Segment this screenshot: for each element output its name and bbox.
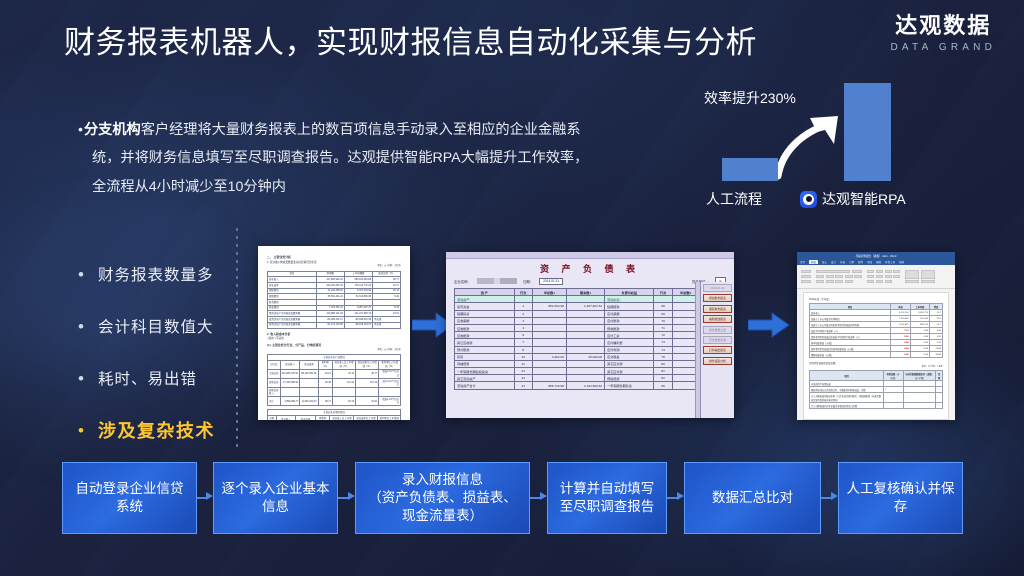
table-cell: 应付工资 (605, 332, 654, 339)
vertical-dotted-divider (236, 228, 238, 448)
table-cell: 其它应交款 (605, 360, 654, 367)
flow-step-label: 录入财报信息（资产负债表、损益表、现金流量表） (362, 471, 523, 526)
bar-label-manual: 人工流程 (706, 189, 762, 209)
doc1-section-1: 二、 主营业务分析 (267, 255, 401, 259)
doc1-section-2: 1. 营业收入构成及数量变动对比情况分析表 (267, 261, 401, 265)
table-cell: 68 (654, 303, 673, 310)
list-item-label: 财务报表数量多 (98, 263, 214, 285)
table-cell (533, 310, 567, 317)
table-cell: 31 (514, 382, 533, 389)
list-item-label: 会计科目数值大 (98, 315, 214, 337)
ribbon-group-paragraph[interactable] (867, 270, 900, 282)
table-cell: 计入当期损益的政府补助（与企业业务密切相关，按照国家统一标准定额或定量享受的政府… (810, 393, 884, 403)
balance-sheet-head: 资 产行次年初数1期末数1负债与权益行次年初数2期末数2 (455, 289, 726, 296)
table-cell: 其他业务收入 (268, 388, 281, 397)
list-item: • 耗时、易出错 (78, 352, 243, 404)
table-cell: 49.48 (318, 378, 332, 387)
table-header-cell: 营业成本比上年增减（%） (356, 360, 379, 369)
table-cell: 其它流动资产 (455, 375, 515, 382)
doc1-table-2-body: 主营业务316,284,376.5188,181,551.8118.2122.1… (268, 369, 401, 406)
table-cell: 20,000.00 (566, 353, 604, 360)
doc3-heading: 2014年度（半年度）: (809, 297, 943, 301)
table-cell (533, 332, 567, 339)
table-cell (332, 388, 355, 397)
lead-line1: 客户经理将大量财务报表上的数百项信息手动录入至相应的企业金融系 (141, 122, 581, 138)
flow-step-6[interactable]: 人工复核确认并保存 (838, 462, 963, 534)
table-cell: 70 (654, 317, 673, 324)
table-cell: 18.19 (332, 397, 355, 406)
doc1-unit-note: 单位：元 币种：人民币 (267, 265, 401, 268)
spreadsheet-side-buttons: 2014-01-31增加财务报表保存财务报表编辑修改报表报表数据上报历史数据查询… (700, 282, 734, 418)
spreadsheet-balance-sheet: 资 产 负 债 表 企业名称： 日期： 2014.01.31 货币单位： 元 资… (446, 252, 734, 418)
table-cell: 待摊费用 (455, 360, 515, 367)
flow-step-1[interactable]: 自动登录企业信贷系统 (62, 462, 197, 534)
side-action-button[interactable]: 历史数据查询 (703, 336, 732, 344)
screenshot-balance-sheet: 资 产 负 债 表 企业名称： 日期： 2014.01.31 货币单位： 元 资… (446, 252, 734, 418)
bullet-icon: • (78, 318, 98, 335)
table-cell (533, 324, 567, 331)
table-cell: 11,661,630.47 (300, 397, 318, 406)
table-cell: 855,716.98 (533, 382, 567, 389)
doc1-section-3: 2. 收入和成本分析 (267, 332, 401, 336)
table-cell: 21 (514, 368, 533, 375)
ribbon-group-clipboard[interactable] (801, 270, 811, 282)
table-cell (533, 346, 567, 353)
word-tab-插入[interactable]: 插入 (822, 260, 827, 264)
table-header-cell: 说明 (936, 371, 943, 381)
table-cell: 其它应付款 (605, 368, 654, 375)
table-cell: 减少3.12个百分点 (379, 378, 401, 387)
table-cell: 不适用 (373, 322, 401, 328)
doc1-table-1: 科目 本期数 上年同期数 变动比例（%） 营业收入417,826,991.203… (267, 271, 401, 329)
word-titlebar: 尽职调查报告（模板）.docx - Word (797, 252, 955, 259)
flow-step-5[interactable]: 数据汇总比对 (684, 462, 821, 534)
word-tab-文件[interactable]: 文件 (800, 260, 805, 264)
screenshot-word-report: 尽职调查报告（模板）.docx - Word 文件开始插入设计布局引用邮件审阅视… (797, 252, 955, 420)
table-cell: - (936, 393, 943, 403)
table-header-cell: 本期金额（￥-￥月） (884, 371, 903, 381)
growth-arrow-icon (772, 108, 850, 180)
table-cell (566, 346, 604, 353)
eye-logo-icon (800, 191, 817, 208)
table-cell: 4 (514, 324, 533, 331)
table-row: 其它应收款7应付福利费73 (455, 339, 726, 346)
table-cell: 74 (654, 346, 673, 353)
table-cell: 6 (514, 332, 533, 339)
table-cell (300, 388, 318, 397)
table-cell: 76 (654, 353, 673, 360)
lead-strong: 分支机构 (84, 122, 141, 138)
table-cell: 其它应收款 (455, 339, 515, 346)
doc3-table-2: 项目本期金额（￥-￥月）与前次披露数据差异（金额）（￥-￥月）说明 非流动资产处… (809, 370, 943, 409)
list-item-highlighted: • 涉及复杂技术 (78, 404, 243, 456)
table-cell (654, 296, 673, 303)
table-cell: 72 (654, 332, 673, 339)
table-cell: 其他业务 (268, 378, 281, 387)
table-cell: 应付账款 (605, 317, 654, 324)
table-cell: 应付票据 (605, 310, 654, 317)
table-header-cell: 营业收入 (276, 416, 296, 420)
table-cell: 短期投资 (455, 310, 515, 317)
table-cell: 36.77 (356, 369, 379, 378)
bullet-icon: • (78, 422, 98, 439)
table-cell: 应付福利费 (605, 339, 654, 346)
table-cell (514, 296, 533, 303)
table-header-cell: 期末数1 (566, 289, 604, 296)
table-cell: 2 (514, 310, 533, 317)
table-cell: 计入当期损益的对非金融企业收取的资金占用费 (810, 403, 884, 409)
table-cell: 1 (514, 303, 533, 310)
doc1-table-1-body: 营业收入417,826,991.20390,100,646.8828.77营业成… (268, 277, 401, 328)
table-header-cell: 毛利率（%） (318, 360, 332, 369)
efficiency-bar-chart: 效率提升230% 人工流程 达观智能RPA (700, 88, 960, 213)
doc3-t2-head: 项目本期金额（￥-￥月）与前次披露数据差异（金额）（￥-￥月）说明 (810, 371, 943, 381)
side-action-button[interactable]: 财务报表分析 (703, 357, 732, 365)
table-cell (566, 310, 604, 317)
doc3-table-1: 项目本期上年同期增减 营业收入4,276,7443,401,77525.7归属于… (809, 303, 943, 358)
brand-logo-cn: 达观数据 (890, 14, 996, 38)
flow-step-label: 自动登录企业信贷系统 (69, 480, 190, 516)
table-header-cell: 资 产 (455, 289, 515, 296)
brand-logo: 达观数据 DATA GRAND (890, 14, 996, 53)
table-cell: 应付利润 (605, 346, 654, 353)
doc1-table-2-head: 分行业营业收入营业成本毛利率（%）营业收入比上年增减（%）营业成本比上年增减（%… (268, 360, 401, 369)
table-cell: 81 (654, 368, 673, 375)
table-header-cell: 行次 (514, 289, 533, 296)
word-tab-视图[interactable]: 视图 (876, 260, 881, 264)
doc3-t2-body: 非流动资产处置损益越权审批或无正式批准文件，或偶发性的税收返还、减免1--计入当… (810, 381, 943, 409)
flow-step-4[interactable]: 计算并自动填写至尽职调查报告 (547, 462, 667, 534)
table-cell: 47,330,698.92 (280, 378, 300, 387)
table-cell: 一年到期长期债权投资 (455, 368, 515, 375)
chart-annotation: 效率提升230% (704, 88, 796, 108)
table-cell (566, 368, 604, 375)
table-row: 流动资产合计31855,716.982,152,500.52一年到期长期负债86 (455, 382, 726, 389)
table-cell: 应收票据 (455, 317, 515, 324)
table-cell: 316,284,376.51 (280, 369, 300, 378)
spreadsheet-title: 资 产 负 债 表 (446, 259, 734, 277)
table-row: 筹资活动产生的现金流量净额-91,172,100.55-95,108,193.0… (268, 322, 401, 328)
word-tab-开发工具[interactable]: 开发工具 (885, 260, 895, 264)
table-cell: 11 (514, 360, 533, 367)
table-cell: 预提费用 (605, 375, 654, 382)
doc3-t1-body: 营业收入4,276,7443,401,77525.7归属于上市公司股东的净利润1… (810, 310, 943, 358)
table-cell: 一年到期长期负债 (605, 382, 654, 389)
table-cell: 主营业务 (268, 369, 281, 378)
table-cell: 增加1.23个百分点 (379, 397, 401, 406)
page-title: 财务报表机器人，实现财报信息自动化采集与分析 (64, 24, 757, 63)
bar-rpa (844, 83, 891, 181)
doc1-table-2: 主营业务分行业情况 分行业营业收入营业成本毛利率（%）营业收入比上年增减（%）营… (267, 354, 401, 406)
table-row: 货币资金1852,254.981,407,601.52短期借款68 (455, 303, 726, 310)
table-header-cell: 营业收入 (280, 360, 300, 369)
table-cell: 8 (514, 346, 533, 353)
table-header-cell: 分地区 (268, 416, 277, 420)
table-cell: 增加2.51个百分点 (379, 369, 401, 378)
table-cell (533, 360, 567, 367)
table-cell: 24 (514, 375, 533, 382)
side-action-button[interactable]: 保存财务报表 (703, 305, 732, 313)
table-header-cell: 年初数1 (533, 289, 567, 296)
table-cell: 30.88 (930, 352, 943, 358)
table-cell (884, 403, 903, 409)
screenshot-financial-report: 二、 主营业务分析 1. 营业收入构成及数量变动对比情况分析表 单位：元 币种：… (258, 246, 410, 420)
table-row: 应收票据3应付账款70 (455, 317, 726, 324)
table-cell: -91,172,100.55 (316, 322, 344, 328)
side-action-button[interactable]: 打印输出报表 (703, 346, 732, 354)
lead-paragraph: •分支机构客户经理将大量财务报表上的数百项信息手动录入至相应的企业金融系 统，并… (78, 116, 658, 201)
word-ribbon (797, 265, 955, 289)
doc3-unit-line: 单位：元 币种：人民币 (809, 365, 943, 368)
table-cell: 应收账款 (455, 324, 515, 331)
table-row: 一年到期长期债权投资21其它应付款81 (455, 368, 726, 375)
spreadsheet-meta: 企业名称： 日期： 2014.01.31 货币单位： 元 (446, 277, 734, 288)
table-cell (566, 360, 604, 367)
side-action-button[interactable]: 编辑修改报表 (703, 315, 732, 323)
table-row: 待摊费用11其它应交款80 (455, 360, 726, 367)
table-header-cell: 与前次披露数据差异（金额）（￥-￥月） (903, 371, 936, 381)
table-row: 其他业务收入 (268, 388, 401, 397)
slide-canvas: 财务报表机器人，实现财报信息自动化采集与分析 达观数据 DATA GRAND •… (0, 0, 1024, 576)
brand-logo-en: DATA GRAND (890, 42, 996, 53)
list-item-label: 涉及复杂技术 (98, 417, 215, 443)
table-cell (533, 368, 567, 375)
ribbon-group-styles[interactable] (905, 270, 935, 284)
table-cell (566, 317, 604, 324)
table-cell: 80 (654, 360, 673, 367)
table-cell: 88,181,551.81 (300, 369, 318, 378)
table-cell: - (903, 393, 936, 403)
table-cell (533, 339, 567, 346)
bar-label-rpa: 达观智能RPA (800, 189, 906, 209)
table-cell: 预收账款 (605, 324, 654, 331)
table-cell (566, 296, 604, 303)
table-row: 计入当期损益的对非金融企业收取的资金占用费-- (810, 403, 943, 409)
table-header-cell: 毛利率比上年增减（%） (379, 360, 401, 369)
right-arrow-icon (197, 495, 213, 501)
table-cell: - (903, 403, 936, 409)
table-header-cell: 分行业 (268, 360, 281, 369)
table-header-cell: 项目 (810, 371, 884, 381)
word-tab-引用[interactable]: 引用 (849, 260, 854, 264)
right-arrow-icon (748, 312, 790, 338)
side-action-button[interactable]: 增加财务报表 (703, 294, 732, 302)
table-cell: 3,462.00 (533, 353, 567, 360)
table-cell: 预付账款 (455, 346, 515, 353)
lead-line3: 全流程从4小时减少至10分钟内 (78, 173, 658, 201)
table-cell: - (936, 403, 943, 409)
table-cell: 167.10 (356, 378, 379, 387)
table-row: 计入当期损益的政府补助（与企业业务密切相关，按照国家统一标准定额或定量享受的政府… (810, 393, 943, 403)
table-header-cell: 毛利率比上年增减（%） (378, 416, 401, 420)
table-cell: 2,152,500.52 (566, 382, 604, 389)
flow-step-label: 数据汇总比对 (712, 489, 793, 507)
table-cell: 69 (654, 310, 673, 317)
table-cell: 流动负债： (605, 296, 654, 303)
word-tab-开始[interactable]: 开始 (809, 260, 818, 264)
table-header-cell: 营业成本 (296, 416, 316, 420)
balance-sheet-body: 流动资产：流动负债：货币资金1852,254.981,407,601.52短期借… (455, 296, 726, 389)
table-cell: -95,108,193.07 (344, 322, 372, 328)
company-value-redacted (477, 278, 517, 284)
bar-manual (722, 158, 778, 181)
table-cell (318, 388, 332, 397)
ribbon-group-font[interactable] (816, 270, 862, 282)
list-item-label: 耗时、易出错 (98, 367, 197, 389)
table-cell: 0.56 (910, 352, 929, 358)
word-document-page: 2014年度（半年度）: 项目本期上年同期增减 营业收入4,276,7443,4… (803, 292, 949, 420)
table-cell (280, 388, 300, 397)
balance-sheet-grid: 资 产行次年初数1期末数1负债与权益行次年初数2期末数2 流动资产：流动负债：货… (454, 288, 726, 390)
doc1-section-4: (1). 主营业务分行业、分产品、分地区情况 (267, 343, 401, 347)
doc1-table-3-head: 分地区营业收入营业成本毛利率（%）营业收入比上年增减（%）营业成本比上年增减（%… (268, 416, 401, 420)
table-row: 合计1,899,998.7711,661,630.4738.7118.1991.… (268, 397, 401, 406)
flow-step-label: 人工复核确认并保存 (845, 480, 956, 516)
date-value[interactable]: 2014.01.31 (539, 278, 563, 285)
table-cell: 货币资金 (455, 303, 515, 310)
table-row: 其它流动资产24预提费用82 (455, 375, 726, 382)
table-cell: 1,407,601.52 (566, 303, 604, 310)
table-cell (533, 296, 567, 303)
right-arrow-icon (667, 495, 684, 501)
doc-financial-report: 二、 主营业务分析 1. 营业收入构成及数量变动对比情况分析表 单位：元 币种：… (267, 255, 401, 420)
table-cell (884, 393, 903, 403)
flow-step-3[interactable]: 录入财报信息（资产负债表、损益表、现金流量表） (355, 462, 530, 534)
lead-bullet-icon: • (78, 122, 83, 138)
table-cell: 应收账款 (455, 332, 515, 339)
table-header-cell: 营业收入比上年增减（%） (332, 360, 355, 369)
table-cell: 10 (514, 353, 533, 360)
table-row: 主营业务316,284,376.5188,181,551.8118.2122.1… (268, 369, 401, 378)
table-header-cell: 营业收入比上年增减（%） (330, 416, 354, 420)
table-cell: 稀释每股收益（元/股） (810, 352, 891, 358)
date-label: 日期： (523, 279, 533, 284)
table-cell: 852,254.98 (533, 303, 567, 310)
table-cell (566, 375, 604, 382)
table-cell: 86 (654, 382, 673, 389)
table-cell: 筹资活动产生的现金流量净额 (268, 322, 317, 328)
lead-line2: 统，并将财务信息填写至尽职调查报告。达观提供智能RPA大幅提升工作效率， (78, 144, 658, 172)
flow-step-label: 计算并自动填写至尽职调查报告 (554, 480, 660, 516)
doc1-table-3: 主营业务分地区情况 分地区营业收入营业成本毛利率（%）营业收入比上年增减（%）营… (267, 409, 401, 420)
table-header-cell: 营业成本 (300, 360, 318, 369)
table-cell (379, 388, 401, 397)
doc1-check-2: □适用 √不适用 (267, 337, 401, 341)
table-row-section: 流动资产：流动负债： (455, 296, 726, 303)
side-action-button[interactable]: 报表数据上报 (703, 326, 732, 334)
spreadsheet-toolbar (446, 252, 734, 259)
table-row: 稀释每股收益（元/股）0.950.5630.88 (810, 352, 943, 358)
right-arrow-icon (530, 495, 547, 501)
table-cell (300, 378, 318, 387)
table-cell: 73 (654, 339, 673, 346)
table-cell: 流动资产： (455, 296, 515, 303)
table-cell (566, 324, 604, 331)
word-tab-审阅[interactable]: 审阅 (867, 260, 872, 264)
table-cell: 应交税金 (605, 353, 654, 360)
table-header-cell: 毛利率（%） (315, 416, 330, 420)
table-header-cell: 负债与权益 (605, 289, 654, 296)
table-cell: 22.11 (332, 369, 355, 378)
table-cell: 18.21 (318, 369, 332, 378)
table-cell: 38.71 (318, 397, 332, 406)
table-cell (566, 332, 604, 339)
table-cell (533, 317, 567, 324)
right-arrow-icon (338, 495, 355, 501)
table-cell: 短期借款 (605, 303, 654, 310)
table-cell: 91.91 (356, 397, 379, 406)
word-tab-设计[interactable]: 设计 (831, 260, 836, 264)
table-cell (356, 388, 379, 397)
table-cell: 3 (514, 317, 533, 324)
bar-label-rpa-text: 达观智能RPA (822, 189, 906, 209)
process-flow: 自动登录企业信贷系统逐个录入企业基本信息录入财报信息（资产负债表、损益表、现金流… (0, 462, 1024, 544)
word-app: 尽职调查报告（模板）.docx - Word 文件开始插入设计布局引用邮件审阅视… (797, 252, 955, 420)
table-cell: 82 (654, 375, 673, 382)
table-cell: 1,899,998.77 (280, 397, 300, 406)
table-cell: 合计 (268, 397, 281, 406)
table-row: 短期投资2应付票据69 (455, 310, 726, 317)
table-row: 应收账款6应付工资72 (455, 332, 726, 339)
table-row: 预付账款8应付利润74 (455, 346, 726, 353)
list-item: • 会计科目数值大 (78, 300, 243, 352)
bullet-icon: • (78, 370, 98, 387)
table-cell: 111.31 (332, 378, 355, 387)
doc1-unit-note-2: 单位：元 币种：人民币 (267, 349, 401, 352)
side-date-field[interactable]: 2014-01-31 (703, 284, 732, 292)
table-row: 应收账款4预收账款71 (455, 324, 726, 331)
table-cell: 流动资产合计 (455, 382, 515, 389)
word-tab-邮件[interactable]: 邮件 (858, 260, 863, 264)
flow-step-label: 逐个录入企业基本信息 (220, 480, 331, 516)
table-cell: 0.95 (891, 352, 910, 358)
word-tab-帮助[interactable]: 帮助 (899, 260, 904, 264)
table-cell: 存货 (455, 353, 515, 360)
table-row: 其他业务47,330,698.9249.48111.31167.10减少3.12… (268, 378, 401, 387)
word-tab-布局[interactable]: 布局 (840, 260, 845, 264)
company-label: 企业名称： (454, 279, 471, 284)
bullet-icon: • (78, 266, 98, 283)
pain-point-list: • 财务报表数量多 • 会计科目数值大 • 耗时、易出错 • 涉及复杂技术 (78, 248, 243, 456)
table-cell: 71 (654, 324, 673, 331)
table-cell (533, 375, 567, 382)
table-cell (566, 339, 604, 346)
table-row: 存货103,462.0020,000.00应交税金76 (455, 353, 726, 360)
table-header-cell: 营业成本比上年增减（%） (354, 416, 378, 420)
table-header-cell: 行次 (654, 289, 673, 296)
flow-step-2[interactable]: 逐个录入企业基本信息 (213, 462, 338, 534)
list-item: • 财务报表数量多 (78, 248, 243, 300)
table-cell: 7 (514, 339, 533, 346)
right-arrow-icon (821, 495, 838, 501)
